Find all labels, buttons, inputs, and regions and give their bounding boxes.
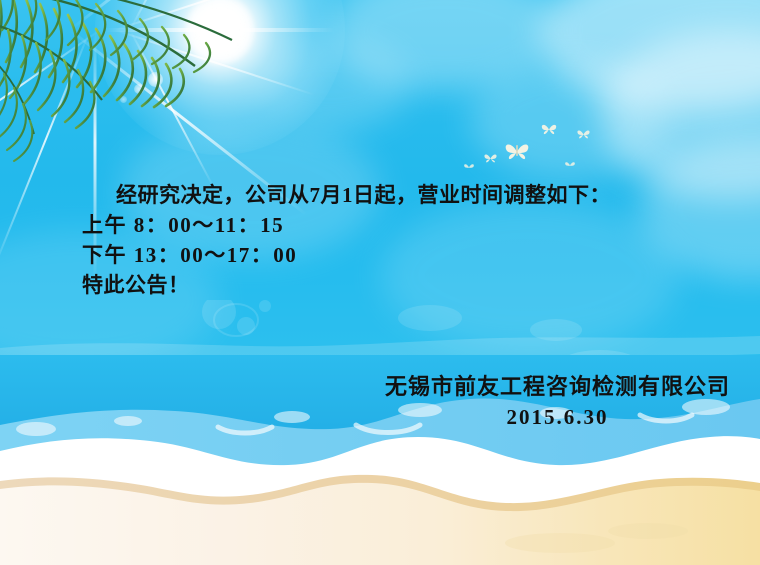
signature-date: 2015.6.30 [385,402,730,432]
notice-poster: 经研究决定，公司从7月1日起，营业时间调整如下： 上午 8：00～11：15 下… [0,0,760,565]
signature-block: 无锡市前友工程咨询检测有限公司 2015.6.30 [385,372,730,432]
signature-company: 无锡市前友工程咨询检测有限公司 [385,372,730,402]
announcement-body: 经研究决定，公司从7月1日起，营业时间调整如下： 上午 8：00～11：15 下… [82,180,722,300]
announcement-line-2: 上午 8：00～11：15 [82,210,722,240]
announcement-line-3: 下午 13：00～17：00 [82,240,722,270]
announcement-line-4: 特此公告！ [82,270,722,300]
announcement-line-1: 经研究决定，公司从7月1日起，营业时间调整如下： [82,180,722,210]
